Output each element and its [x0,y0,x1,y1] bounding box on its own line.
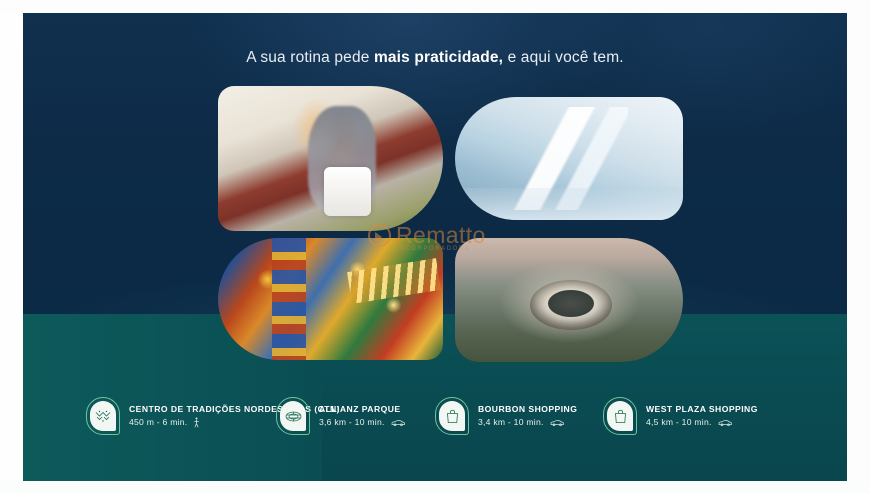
poi-distance-row: 3,4 km - 10 min. [478,417,577,428]
car-icon [391,419,405,427]
poi-distance-row: 3,6 km - 10 min. [319,417,405,428]
points-of-interest-row: CENTRO DE TRADIÇÕES NORDESTINAS (CTN) 45… [22,392,848,444]
festival-bunting-icon [90,401,116,431]
gallery-card-craft-fair[interactable] [218,238,443,360]
poi-title: BOURBON SHOPPING [478,404,577,415]
gallery-card-stadium-aerial[interactable] [455,238,683,362]
poi-distance: 4,5 km - 10 min. [646,417,712,428]
shopping-bag-icon [607,401,633,431]
poi-badge [435,397,469,435]
poi-title: WEST PLAZA SHOPPING [646,404,758,415]
poi-text-block: BOURBON SHOPPING 3,4 km - 10 min. [478,404,577,428]
poi-badge [603,397,637,435]
poi-text-block: WEST PLAZA SHOPPING 4,5 km - 10 min. [646,404,758,428]
car-icon [718,419,732,427]
poi-badge [276,397,310,435]
poi-distance: 3,4 km - 10 min. [478,417,544,428]
woman-shopping-photo [218,86,443,231]
headline-lead: A sua rotina pede [246,49,374,66]
poi-distance-row: 4,5 km - 10 min. [646,417,758,428]
poi-distance: 3,6 km - 10 min. [319,417,385,428]
stadium-icon [280,401,306,431]
poi-title: ALLIANZ PARQUE [319,404,405,415]
poi-badge [86,397,120,435]
poi-distance: 450 m - 6 min. [129,417,187,428]
headline-strong: mais praticidade, [374,49,503,66]
stadium-aerial-photo [455,238,683,362]
page-title: A sua rotina pede mais praticidade, e aq… [0,49,870,67]
mall-interior-photo [455,97,683,220]
slide-canvas: A sua rotina pede mais praticidade, e aq… [0,0,870,493]
car-icon [550,419,564,427]
shopping-bag-icon [439,401,465,431]
gallery-card-mall-interior[interactable] [455,97,683,220]
craft-fair-photo [218,238,443,360]
gallery-card-woman-shopping[interactable] [218,86,443,231]
poi-item-allianz-parque[interactable]: ALLIANZ PARQUE 3,6 km - 10 min. [276,392,405,440]
walk-icon [193,417,200,428]
poi-item-bourbon-shopping[interactable]: BOURBON SHOPPING 3,4 km - 10 min. [435,392,577,440]
poi-text-block: ALLIANZ PARQUE 3,6 km - 10 min. [319,404,405,428]
headline-tail: e aqui você tem. [503,49,624,66]
poi-item-west-plaza-shopping[interactable]: WEST PLAZA SHOPPING 4,5 km - 10 min. [603,392,758,440]
